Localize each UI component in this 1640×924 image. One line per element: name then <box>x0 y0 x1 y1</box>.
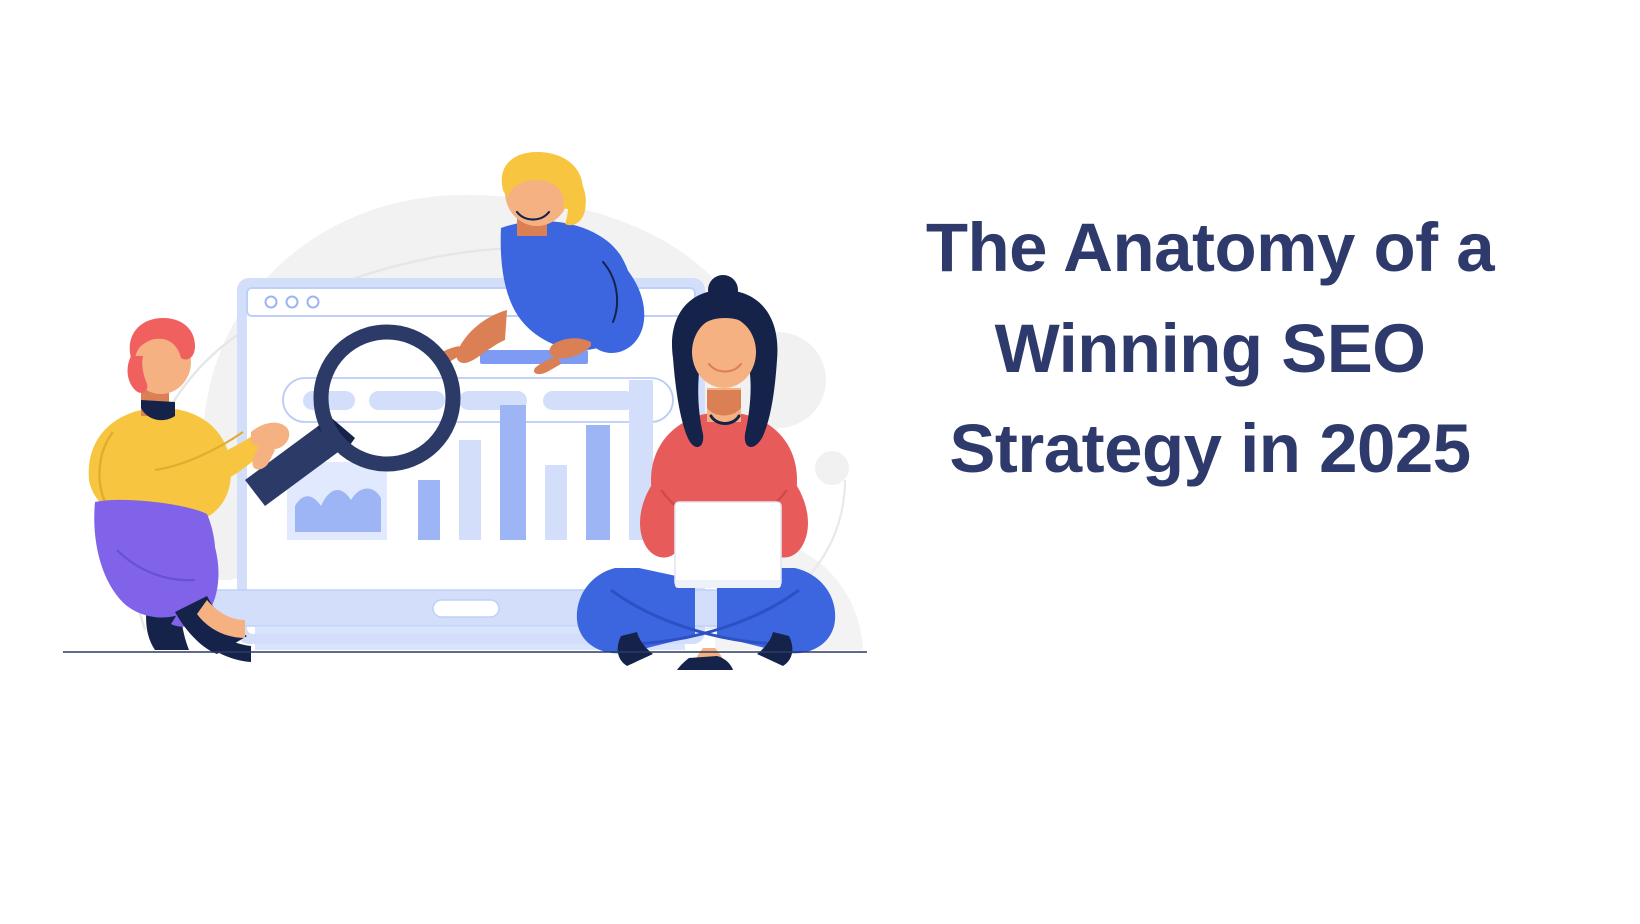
laptop-trackpad <box>433 600 499 617</box>
seated-laptop <box>675 502 781 586</box>
search-placeholder-pill-2 <box>369 391 445 410</box>
illustration-pane <box>55 150 875 670</box>
search-placeholder-pill-4 <box>543 391 635 410</box>
bar-5 <box>586 425 610 540</box>
bar-2 <box>459 440 481 540</box>
title-pane: The Anatomy of a Winning SEO Strategy in… <box>860 198 1560 528</box>
bar-4 <box>545 465 567 540</box>
seo-team-analytics-illustration <box>55 150 875 670</box>
bar-1 <box>418 480 440 540</box>
bar-3 <box>500 405 526 540</box>
browser-dots <box>266 297 319 308</box>
decor-circle-small-right <box>815 451 849 485</box>
banner-root: The Anatomy of a Winning SEO Strategy in… <box>0 0 1640 924</box>
page-title: The Anatomy of a Winning SEO Strategy in… <box>880 198 1540 500</box>
search-bar[interactable] <box>283 378 673 422</box>
